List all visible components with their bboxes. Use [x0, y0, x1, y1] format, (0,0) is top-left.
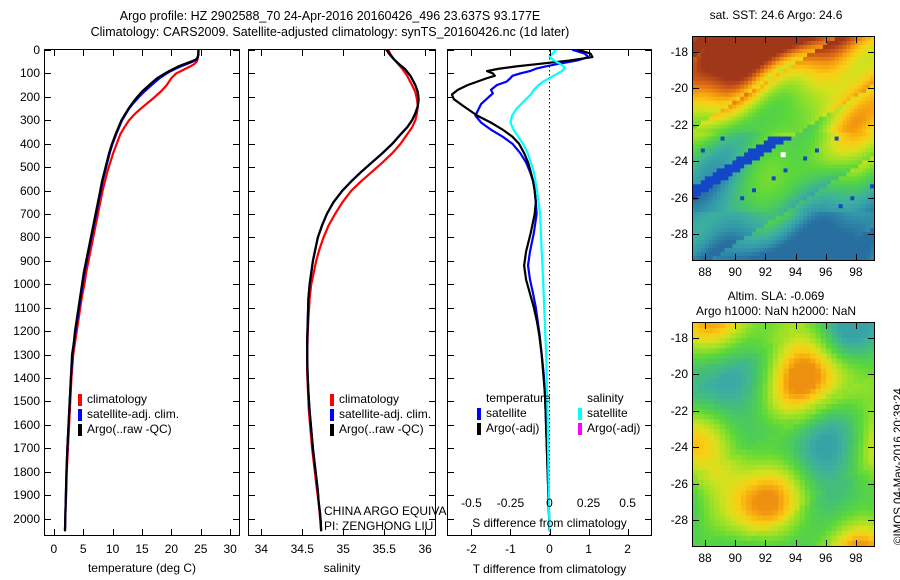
sst-cell: [728, 89, 733, 94]
sla-cell: [847, 353, 853, 359]
sst-cell: [870, 168, 874, 173]
sst-cell: [697, 172, 702, 177]
axis-tick-mark: [693, 520, 699, 521]
axis-tick-mark: [233, 214, 239, 215]
sst-cell: [835, 212, 840, 217]
sst-cell: [736, 49, 741, 54]
sst-cell: [728, 57, 733, 62]
sst-cell: [721, 236, 726, 241]
sst-cell: [850, 121, 855, 126]
sla-cell: [821, 490, 827, 496]
sla-cell: [826, 353, 832, 359]
sst-cell: [823, 208, 828, 213]
axis-tick-mark: [249, 308, 255, 309]
sst-cell: [776, 109, 781, 114]
legend-label: satellite-adj. clim.: [339, 407, 431, 422]
axis-tick-mark: [429, 331, 435, 332]
sst-cell: [760, 73, 765, 78]
sla-cell: [714, 521, 720, 527]
axis-tick-mark: [384, 50, 385, 56]
sst-cell: [776, 152, 781, 157]
sla-cell: [762, 470, 768, 476]
sla-cell: [815, 353, 821, 359]
sst-cell: [705, 168, 710, 173]
axis-tick-mark: [448, 472, 454, 473]
sst-cell: [784, 109, 789, 114]
sst-cell: [854, 53, 859, 58]
sla-cell: [821, 495, 827, 501]
sla-cell: [810, 338, 816, 344]
sst-cell: [870, 240, 874, 245]
sla-cell: [778, 536, 784, 542]
sst-cell: [728, 69, 733, 74]
sst-cell: [768, 69, 773, 74]
sst-cell: [827, 69, 832, 74]
sst-cell: [748, 228, 753, 233]
sst-cell: [819, 137, 824, 142]
sst-cell: [776, 164, 781, 169]
sst-cell: [784, 212, 789, 217]
sst-cell: [803, 77, 808, 82]
sla-cell: [768, 521, 774, 527]
sst-cell: [835, 204, 840, 209]
sla-cell: [789, 333, 795, 339]
sst-cell: [795, 101, 800, 106]
sst-cell: [807, 192, 812, 197]
sst-cell: [831, 216, 836, 221]
axis-tick-mark: [693, 338, 699, 339]
sla-cell: [794, 384, 800, 390]
sst-cell: [721, 224, 726, 229]
sla-cell: [752, 364, 758, 370]
sst-cell: [795, 81, 800, 86]
sla-cell: [752, 369, 758, 375]
sst-cell: [831, 81, 836, 86]
sst-cell: [803, 192, 808, 197]
sst-cell: [717, 37, 722, 42]
sst-cell: [795, 200, 800, 205]
sst-cell: [811, 208, 816, 213]
sla-cell: [773, 536, 779, 542]
sla-cell: [826, 369, 832, 375]
sst-cell: [740, 236, 745, 241]
sla-cell: [863, 470, 869, 476]
sla-cell: [789, 470, 795, 476]
sst-cell: [744, 228, 749, 233]
sst-cell: [843, 105, 848, 110]
sla-cell: [831, 460, 837, 466]
sla-cell: [826, 500, 832, 506]
sst-cell: [827, 160, 832, 165]
sla-cell: [826, 338, 832, 344]
sst-cell: [701, 89, 706, 94]
sla-cell: [810, 490, 816, 496]
sla-cell: [762, 389, 768, 395]
sst-cell: [780, 196, 785, 201]
sst-cell: [717, 89, 722, 94]
sst-cell: [862, 172, 867, 177]
sst-cell: [831, 117, 836, 122]
sla-cell: [784, 333, 790, 339]
sla-cell: [799, 490, 805, 496]
axis-tick-mark: [645, 401, 651, 402]
sla-cell: [789, 500, 795, 506]
sst-cell: [693, 53, 698, 58]
sla-cell: [698, 495, 704, 501]
sst-cell: [858, 69, 863, 74]
sst-cell: [795, 192, 800, 197]
sla-cell: [853, 399, 859, 405]
sst-cell: [768, 204, 773, 209]
sla-cell: [858, 374, 864, 380]
sst-cell: [748, 45, 753, 50]
sst-cell: [776, 256, 781, 260]
sla-cell: [810, 455, 816, 461]
sst-cell: [768, 244, 773, 249]
sst-cell: [799, 113, 804, 118]
sst-cell: [705, 184, 710, 189]
sst-cell: [791, 89, 796, 94]
sst-cell: [705, 53, 710, 58]
sla-cell: [725, 480, 731, 486]
sst-cell: [744, 180, 749, 185]
sst-cell: [736, 93, 741, 98]
sst-cell: [748, 141, 753, 146]
sst-cell: [858, 156, 863, 161]
sst-cell: [839, 188, 844, 193]
sla-cell: [784, 480, 790, 486]
sst-cell: [831, 252, 836, 257]
sla-cell: [778, 404, 784, 410]
sst-cell: [862, 236, 867, 241]
salinity-profile-panel: [248, 49, 436, 536]
sst-cell: [787, 224, 792, 229]
sst-cell: [760, 208, 765, 213]
sst-cell: [850, 212, 855, 217]
sla-cell: [720, 465, 726, 471]
sst-cell: [693, 228, 698, 233]
sst-cell: [862, 53, 867, 58]
sla-cell: [693, 414, 699, 420]
sla-cell: [853, 505, 859, 511]
sst-cell: [717, 164, 722, 169]
sla-cell: [831, 450, 837, 456]
sst-cell: [752, 69, 757, 74]
axis-tick-mark: [429, 261, 435, 262]
sla-cell: [815, 369, 821, 375]
sla-cell: [730, 424, 736, 430]
sla-cell: [768, 516, 774, 522]
sla-cell: [698, 541, 704, 546]
sst-cell: [728, 117, 733, 122]
sst-cell: [728, 97, 733, 102]
sla-cell: [863, 389, 869, 395]
sla-cell: [837, 338, 843, 344]
sla-cell: [741, 455, 747, 461]
sst-cell: [736, 196, 741, 201]
sla-cell: [704, 485, 710, 491]
sst-cell: [768, 89, 773, 94]
sla-cell: [853, 414, 859, 420]
sst-cell: [799, 117, 804, 122]
sla-cell: [746, 364, 752, 370]
sst-cell: [858, 101, 863, 106]
sst-cell: [740, 125, 745, 130]
sst-cell: [784, 232, 789, 237]
sla-cell: [784, 495, 790, 501]
sst-cell: [815, 192, 820, 197]
sst-cell: [784, 216, 789, 221]
sst-cell: [784, 89, 789, 94]
sst-cell: [843, 256, 848, 260]
sla-cell: [730, 399, 736, 405]
sst-cell: [807, 57, 812, 62]
sst-cell: [701, 172, 706, 177]
sst-cell: [776, 121, 781, 126]
sst-cell: [721, 256, 726, 260]
sla-cell: [858, 505, 864, 511]
sst-cell: [717, 117, 722, 122]
sst-cell: [831, 228, 836, 233]
sst-cell: [776, 200, 781, 205]
sst-cell: [807, 61, 812, 66]
sla-cell: [709, 409, 715, 415]
sst-cell: [732, 168, 737, 173]
sla-cell: [709, 511, 715, 517]
sla-cell: [794, 516, 800, 522]
sst-cell: [784, 77, 789, 82]
sla-cell: [704, 475, 710, 481]
sst-cell: [732, 137, 737, 142]
sst-cell: [705, 220, 710, 225]
sst-cell: [858, 164, 863, 169]
sla-cell: [821, 435, 827, 441]
sla-cell: [815, 460, 821, 466]
temperature-profile-plot: [45, 50, 239, 535]
sst-cell: [850, 248, 855, 253]
sst-cell: [850, 141, 855, 146]
axis-tick-mark: [83, 529, 84, 535]
x-axis-tick-label: 98: [849, 265, 862, 279]
sst-cell: [850, 117, 855, 122]
sla-cell: [837, 353, 843, 359]
sst-cell: [713, 168, 718, 173]
axis-tick-mark: [233, 448, 239, 449]
sst-cell: [728, 180, 733, 185]
sla-cell: [720, 440, 726, 446]
sla-cell: [698, 374, 704, 380]
sst-cell: [697, 81, 702, 86]
sst-cell: [780, 117, 785, 122]
sla-cell: [720, 516, 726, 522]
sla-cell: [768, 414, 774, 420]
sst-cell: [709, 176, 714, 181]
sla-cell: [784, 516, 790, 522]
sst-cell: [717, 200, 722, 205]
sst-cell: [752, 228, 757, 233]
sst-cell: [732, 232, 737, 237]
sst-cell: [780, 256, 785, 260]
sst-cell: [724, 176, 729, 181]
sst-cell: [717, 113, 722, 118]
sla-cell: [768, 435, 774, 441]
sla-cell: [799, 511, 805, 517]
sla-cell: [768, 353, 774, 359]
sst-cell: [713, 53, 718, 58]
sla-cell: [810, 328, 816, 334]
sst-cell: [839, 180, 844, 185]
legend-label: climatology: [339, 392, 399, 407]
sla-cell: [784, 511, 790, 517]
axis-tick-mark: [693, 88, 699, 89]
sst-cell: [831, 208, 836, 213]
sst-cell: [858, 129, 863, 134]
sst-cell: [799, 212, 804, 217]
sst-cell: [748, 89, 753, 94]
x-axis-tick-label: 34: [255, 542, 268, 556]
sla-cell: [752, 450, 758, 456]
axis-tick-mark: [249, 261, 255, 262]
sst-cell: [697, 188, 702, 193]
sst-cell: [721, 49, 726, 54]
sst-cell: [870, 228, 874, 233]
sst-cell: [866, 133, 871, 138]
sst-cell: [854, 160, 859, 165]
sst-cell: [819, 160, 824, 165]
sla-cell: [794, 500, 800, 506]
sst-cell: [721, 125, 726, 130]
sst-cell: [760, 81, 765, 86]
sla-cell: [858, 521, 864, 527]
sst-cell: [701, 69, 706, 74]
axis-tick-mark: [171, 50, 172, 56]
sst-cell: [846, 121, 851, 126]
sst-cell: [768, 129, 773, 134]
axis-tick-mark: [45, 97, 51, 98]
sst-cell: [756, 248, 761, 253]
sla-cell: [805, 404, 811, 410]
sst-cell: [791, 188, 796, 193]
sst-cell: [756, 69, 761, 74]
sla-cell: [693, 460, 699, 466]
sla-cell: [714, 364, 720, 370]
sst-cell: [799, 200, 804, 205]
sla-cell: [853, 394, 859, 400]
sla-cell: [826, 455, 832, 461]
sst-cell: [803, 73, 808, 78]
sla-cell: [762, 364, 768, 370]
sst-cell: [752, 152, 757, 157]
sst-cell: [776, 117, 781, 122]
sla-cell: [693, 429, 699, 435]
sst-cell: [862, 240, 867, 245]
sst-cell: [736, 180, 741, 185]
sst-cell: [752, 240, 757, 245]
sst-cell: [831, 192, 836, 197]
sst-cell: [760, 149, 765, 154]
sla-cell: [821, 404, 827, 410]
sla-cell: [799, 445, 805, 451]
sst-cell: [748, 164, 753, 169]
sla-cell: [837, 394, 843, 400]
sst-cell: [744, 168, 749, 173]
axis-tick-mark: [471, 50, 472, 56]
sla-cell: [714, 526, 720, 532]
sst-cell: [870, 113, 874, 118]
sla-cell: [698, 511, 704, 517]
sst-cell: [752, 49, 757, 54]
sst-cell: [850, 256, 855, 260]
sst-cell: [721, 208, 726, 213]
axis-tick-mark: [429, 308, 435, 309]
sst-cell: [807, 248, 812, 253]
sst-cell: [721, 196, 726, 201]
sla-cell: [815, 495, 821, 501]
sla-cell: [784, 429, 790, 435]
sst-cell: [846, 228, 851, 233]
sst-cell: [843, 93, 848, 98]
sst-cell: [784, 204, 789, 209]
sst-cell: [732, 212, 737, 217]
sla-cell: [831, 369, 837, 375]
sla-cell: [837, 475, 843, 481]
x-axis-tick-label: 34.5: [291, 542, 314, 556]
sla-cell: [826, 348, 832, 354]
sla-cell: [842, 511, 848, 517]
sla-cell: [704, 353, 710, 359]
sla-cell: [815, 455, 821, 461]
sst-cell: [728, 152, 733, 157]
sst-cell: [831, 180, 836, 185]
sst-cell: [717, 168, 722, 173]
sst-cell: [748, 57, 753, 62]
sst-cell: [732, 117, 737, 122]
sst-cell: [740, 172, 745, 177]
sst-cell: [724, 41, 729, 46]
sst-cell: [721, 192, 726, 197]
sst-cell: [854, 168, 859, 173]
sla-cell: [863, 475, 869, 481]
sst-cell: [787, 89, 792, 94]
sst-cell: [732, 220, 737, 225]
x-axis-tick-label: 90: [729, 551, 742, 565]
x-axis-tick-label: 20: [165, 542, 178, 556]
sst-cell: [709, 192, 714, 197]
sst-cell: [701, 152, 706, 157]
sst-cell: [756, 117, 761, 122]
sst-cell: [811, 77, 816, 82]
sla-cell: [789, 323, 795, 329]
legend-label: Argo(-adj): [486, 421, 539, 436]
sla-cell: [714, 500, 720, 506]
sst-cell: [827, 89, 832, 94]
sla-cell: [821, 505, 827, 511]
sst-cell: [839, 113, 844, 118]
sla-cell: [720, 475, 726, 481]
sst-cell: [724, 65, 729, 70]
sst-cell: [713, 73, 718, 78]
sst-cell: [807, 244, 812, 249]
sst-cell: [784, 164, 789, 169]
sla-cell: [741, 399, 747, 405]
sla-cell: [693, 465, 699, 471]
sla-cell: [720, 364, 726, 370]
sst-cell: [728, 168, 733, 173]
sst-cell: [732, 180, 737, 185]
sst-cell: [709, 41, 714, 46]
sst-cell: [870, 200, 874, 205]
sst-cell: [717, 152, 722, 157]
